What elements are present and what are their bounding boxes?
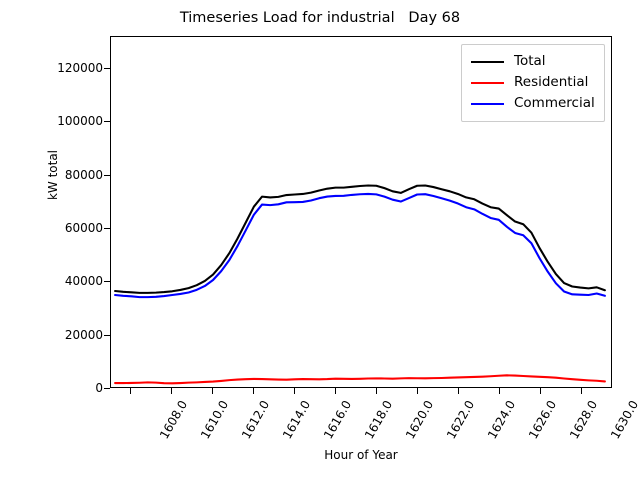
legend-item-commercial[interactable]: Commercial: [471, 93, 595, 114]
y-tick-label: 0: [95, 381, 103, 395]
y-tick-label: 60000: [65, 221, 103, 235]
x-tick-mark: [253, 388, 254, 394]
legend-label: Commercial: [514, 97, 595, 111]
series-line-residential: [115, 375, 605, 383]
x-tick-mark: [376, 388, 377, 394]
x-axis-label: Hour of Year: [110, 448, 612, 462]
x-tick-mark: [540, 388, 541, 394]
y-tick-label: 80000: [65, 168, 103, 182]
x-tick-label: 1614.0: [280, 398, 313, 441]
chart-figure: Timeseries Load for industrial Day 68 02…: [0, 0, 640, 480]
x-tick-label: 1624.0: [485, 398, 518, 441]
x-tick-label: 1608.0: [157, 398, 190, 441]
y-tick-mark: [104, 281, 110, 282]
y-tick-mark: [104, 388, 110, 389]
x-tick-label: 1616.0: [321, 398, 354, 441]
y-tick-label: 40000: [65, 274, 103, 288]
x-tick-label: 1620.0: [403, 398, 436, 441]
y-tick-mark: [104, 121, 110, 122]
legend-label: Residential: [514, 76, 588, 90]
x-tick-mark: [581, 388, 582, 394]
chart-title: Timeseries Load for industrial Day 68: [0, 10, 640, 26]
y-tick-label: 100000: [57, 114, 103, 128]
legend-swatch-residential: [471, 82, 504, 84]
x-tick-mark: [335, 388, 336, 394]
series-line-total: [115, 185, 605, 292]
x-tick-label: 1618.0: [362, 398, 395, 441]
y-tick-mark: [104, 228, 110, 229]
x-tick-label: 1630.0: [608, 398, 640, 441]
x-tick-mark: [130, 388, 131, 394]
legend-label: Total: [514, 55, 546, 69]
x-tick-mark: [171, 388, 172, 394]
x-tick-label: 1628.0: [567, 398, 600, 441]
legend-swatch-commercial: [471, 103, 504, 105]
x-tick-mark: [417, 388, 418, 394]
y-tick-mark: [104, 335, 110, 336]
x-tick-mark: [458, 388, 459, 394]
x-tick-label: 1622.0: [444, 398, 477, 441]
x-axis-tick-labels: 1608.01610.01612.01614.01616.01618.01620…: [110, 388, 612, 478]
x-tick-mark: [499, 388, 500, 394]
y-tick-label: 20000: [65, 328, 103, 342]
x-tick-mark: [294, 388, 295, 394]
series-line-commercial: [115, 194, 605, 297]
chart-legend: TotalResidentialCommercial: [461, 44, 605, 122]
x-tick-label: 1610.0: [198, 398, 231, 441]
y-tick-label: 120000: [57, 61, 103, 75]
legend-item-residential[interactable]: Residential: [471, 72, 595, 93]
legend-item-total[interactable]: Total: [471, 51, 595, 72]
x-tick-label: 1626.0: [526, 398, 559, 441]
y-tick-mark: [104, 175, 110, 176]
legend-swatch-total: [471, 61, 504, 63]
y-tick-mark: [104, 68, 110, 69]
x-tick-label: 1612.0: [239, 398, 272, 441]
x-tick-mark: [212, 388, 213, 394]
y-axis-label: kW total: [46, 115, 60, 235]
